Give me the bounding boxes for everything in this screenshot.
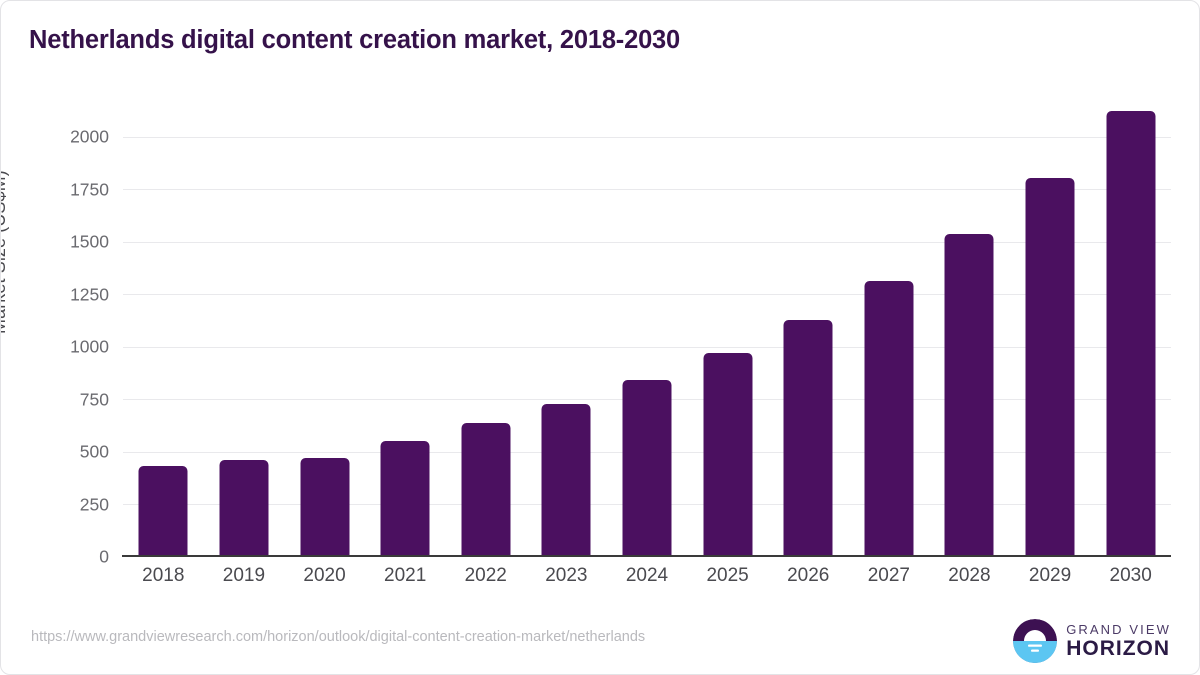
bar-slot <box>123 111 204 557</box>
plot-area <box>123 111 1171 557</box>
chart-page: Netherlands digital content creation mar… <box>0 0 1200 675</box>
bar-2028[interactable] <box>945 234 994 557</box>
logo-line-1: GRAND VIEW <box>1066 623 1171 636</box>
bar-slot <box>445 111 526 557</box>
y-tick-label: 750 <box>80 389 109 410</box>
bar-slot <box>607 111 688 557</box>
x-tick-label-2018: 2018 <box>123 565 204 587</box>
y-axis-tick-labels: 025050075010001250150017502000 <box>1 111 109 557</box>
source-url[interactable]: https://www.grandviewresearch.com/horizo… <box>31 629 645 645</box>
page-title: Netherlands digital content creation mar… <box>29 26 680 55</box>
bar-series <box>123 111 1171 557</box>
bar-2025[interactable] <box>703 353 752 557</box>
x-axis-tick-labels: 2018201920202021202220232024202520262027… <box>123 565 1171 595</box>
x-tick-label-2025: 2025 <box>687 565 768 587</box>
x-tick-label-2022: 2022 <box>445 565 526 587</box>
horizon-circle-icon <box>1013 619 1057 663</box>
y-tick-label: 250 <box>80 494 109 515</box>
bar-2020[interactable] <box>300 458 349 557</box>
x-tick-label-2027: 2027 <box>849 565 930 587</box>
bar-slot <box>929 111 1010 557</box>
bar-slot <box>204 111 285 557</box>
bar-2021[interactable] <box>381 441 430 557</box>
bar-slot <box>1090 111 1171 557</box>
x-tick-label-2020: 2020 <box>284 565 365 587</box>
logo-wordmark: GRAND VIEW HORIZON <box>1066 623 1171 659</box>
bar-2019[interactable] <box>219 460 268 557</box>
bar-2027[interactable] <box>864 281 913 557</box>
x-axis-line <box>122 555 1171 557</box>
bar-slot <box>849 111 930 557</box>
logo-line-2: HORIZON <box>1066 638 1171 659</box>
bar-2023[interactable] <box>542 404 591 558</box>
bar-2026[interactable] <box>784 320 833 557</box>
bar-slot <box>284 111 365 557</box>
x-tick-label-2026: 2026 <box>768 565 849 587</box>
y-tick-label: 500 <box>80 442 109 463</box>
y-tick-label: 1000 <box>70 337 109 358</box>
bar-slot <box>687 111 768 557</box>
bar-slot <box>1010 111 1091 557</box>
bar-2024[interactable] <box>622 380 671 557</box>
x-tick-label-2024: 2024 <box>607 565 688 587</box>
bar-2029[interactable] <box>1026 178 1075 557</box>
y-tick-label: 1500 <box>70 232 109 253</box>
brand-logo: GRAND VIEW HORIZON <box>1013 619 1171 663</box>
bar-slot <box>526 111 607 557</box>
x-tick-label-2021: 2021 <box>365 565 446 587</box>
bar-slot <box>768 111 849 557</box>
x-tick-label-2028: 2028 <box>929 565 1010 587</box>
bar-2030[interactable] <box>1106 111 1155 557</box>
x-tick-label-2029: 2029 <box>1010 565 1091 587</box>
bar-2018[interactable] <box>139 466 188 557</box>
y-tick-label: 1250 <box>70 284 109 305</box>
x-tick-label-2023: 2023 <box>526 565 607 587</box>
x-tick-label-2019: 2019 <box>204 565 285 587</box>
x-tick-label-2030: 2030 <box>1090 565 1171 587</box>
bar-2022[interactable] <box>461 423 510 557</box>
y-tick-label: 0 <box>99 547 109 568</box>
bar-slot <box>365 111 446 557</box>
y-tick-label: 2000 <box>70 127 109 148</box>
y-tick-label: 1750 <box>70 179 109 200</box>
